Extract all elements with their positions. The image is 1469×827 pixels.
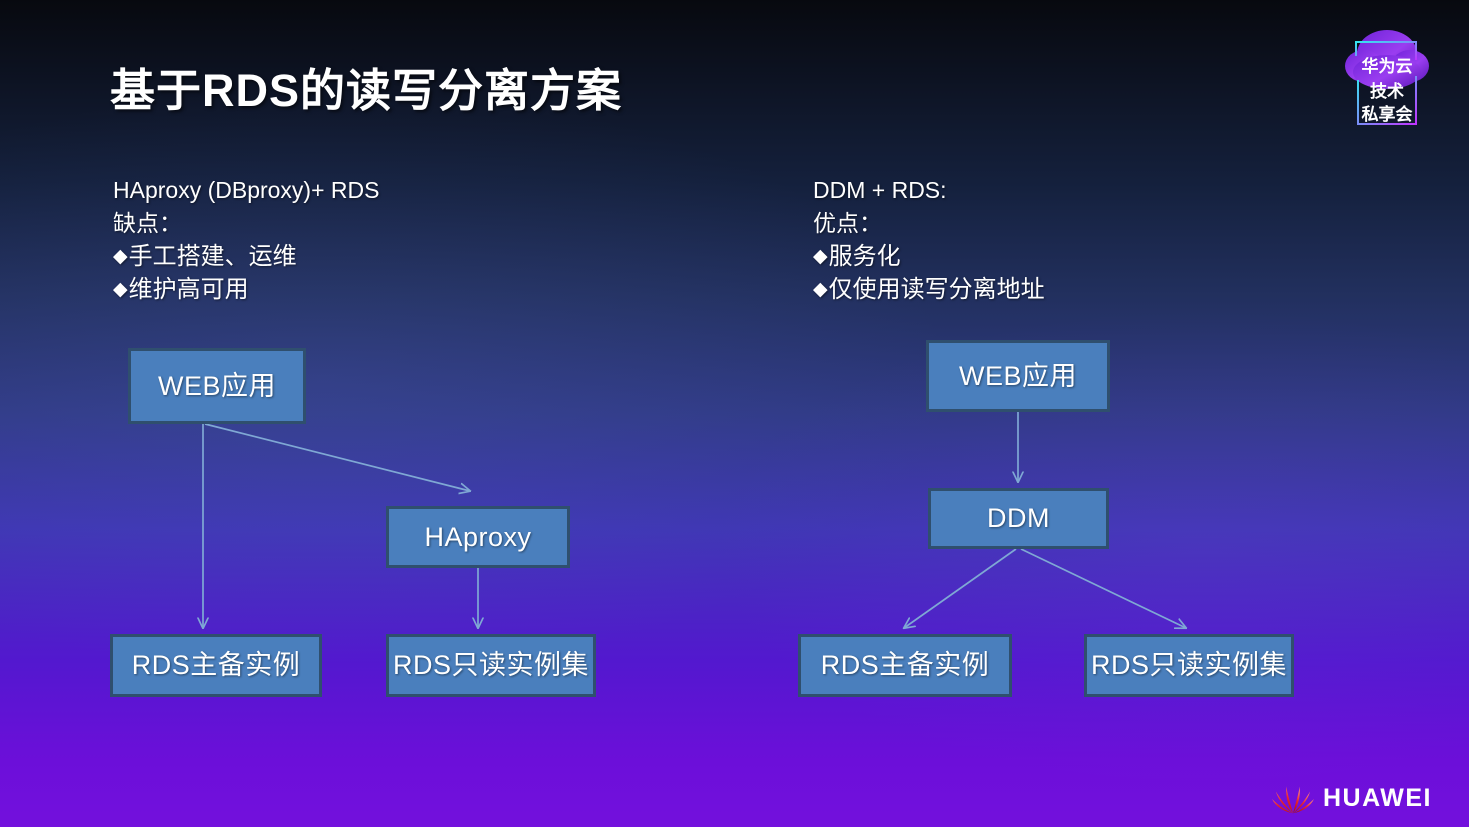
node-rds-master-standby-left[interactable]: RDS主备实例 xyxy=(110,634,322,697)
left-bullet-1: ◆手工搭建、运维 xyxy=(113,240,379,273)
arrow-ddm-to-rds-ro xyxy=(1021,549,1186,628)
node-haproxy[interactable]: HAproxy xyxy=(386,506,570,568)
slide-canvas: 基于RDS的读写分离方案 HAproxy (DBproxy)+ RDS 缺点： … xyxy=(0,0,1469,827)
diamond-bullet-icon: ◆ xyxy=(113,279,128,300)
huawei-cloud-event-logo: 华为云 技术 私享会 xyxy=(1340,20,1435,142)
right-bullet-2: ◆仅使用读写分离地址 xyxy=(813,273,1045,306)
left-bullet-2: ◆维护高可用 xyxy=(113,273,379,306)
huawei-brand-logo: HUAWEI xyxy=(1272,780,1432,816)
arrow-web-to-haproxy xyxy=(205,424,470,491)
right-bullet-2-label: 仅使用读写分离地址 xyxy=(829,276,1045,303)
right-heading: DDM + RDS: xyxy=(813,174,1045,207)
left-bullet-1-label: 手工搭建、运维 xyxy=(129,243,297,270)
page-title: 基于RDS的读写分离方案 xyxy=(110,54,622,119)
node-rds-readonly-left[interactable]: RDS只读实例集 xyxy=(386,634,596,697)
left-text-block: HAproxy (DBproxy)+ RDS 缺点： ◆手工搭建、运维 ◆维护高… xyxy=(113,174,379,306)
node-rds-master-standby-right[interactable]: RDS主备实例 xyxy=(798,634,1012,697)
left-bullet-2-label: 维护高可用 xyxy=(129,276,249,303)
right-bullet-1: ◆服务化 xyxy=(813,240,1045,273)
left-heading: HAproxy (DBproxy)+ RDS xyxy=(113,174,379,207)
event-logo-line-2: 技术 xyxy=(1370,81,1404,101)
node-ddm[interactable]: DDM xyxy=(928,488,1109,549)
event-logo-line-3: 私享会 xyxy=(1362,104,1413,124)
huawei-wordmark: HUAWEI xyxy=(1323,786,1432,811)
node-web-app-right[interactable]: WEB应用 xyxy=(926,340,1110,412)
diamond-bullet-icon: ◆ xyxy=(113,246,128,267)
left-subheading: 缺点： xyxy=(113,207,379,240)
node-rds-readonly-right[interactable]: RDS只读实例集 xyxy=(1084,634,1294,697)
right-text-block: DDM + RDS: 优点： ◆服务化 ◆仅使用读写分离地址 xyxy=(813,174,1045,306)
diamond-bullet-icon: ◆ xyxy=(813,279,828,300)
diamond-bullet-icon: ◆ xyxy=(813,246,828,267)
right-bullet-1-label: 服务化 xyxy=(829,243,901,270)
node-web-app-left[interactable]: WEB应用 xyxy=(128,348,306,424)
huawei-petal-icon xyxy=(1272,781,1314,815)
arrow-ddm-to-rds-ms xyxy=(904,549,1016,628)
event-logo-line-1: 华为云 xyxy=(1362,56,1413,76)
right-subheading: 优点： xyxy=(813,207,1045,240)
